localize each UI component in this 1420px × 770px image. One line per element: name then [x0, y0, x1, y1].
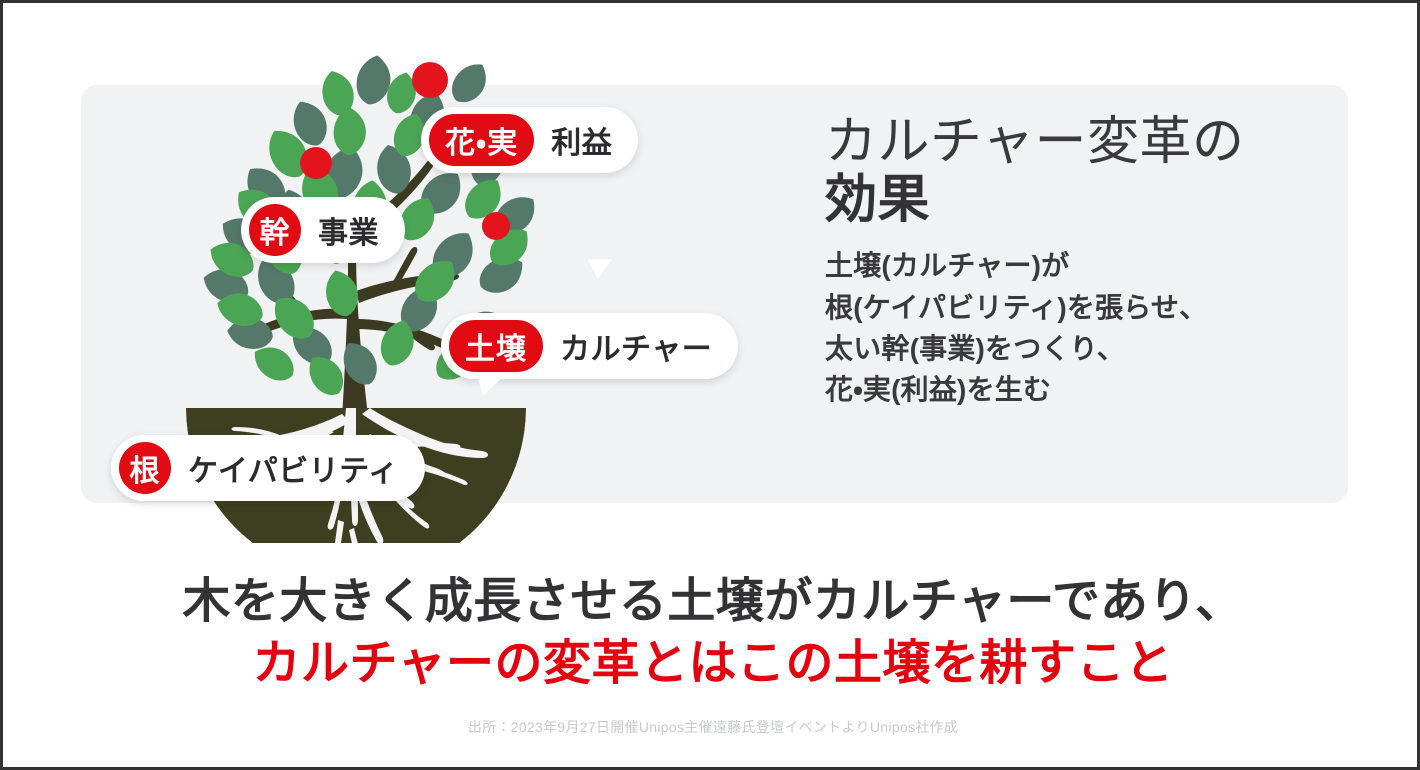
callout-badge-trunk: 幹 [249, 204, 301, 256]
description-line-2: 根(ケイパビリティ)を張らせ、 [825, 287, 1325, 328]
description-line-4: 花・実(利益)を生む [825, 369, 1325, 410]
callout-flower-fruit: 花・実 利益 [421, 107, 638, 173]
callout-soil: 土壌 カルチャー [441, 313, 738, 379]
callout-badge-flower-fruit: 花・実 [429, 114, 534, 166]
callout-label-business: 事業 [318, 208, 379, 252]
heading-line-1: カルチャー変革の [825, 113, 1325, 171]
callout-label-culture: カルチャー [560, 324, 712, 368]
slide-canvas: 花・実 利益 幹 事業 土壌 カルチャー 根 ケイパビリティ カルチャー変革の … [0, 0, 1420, 770]
callout-label-profit: 利益 [551, 118, 612, 162]
summary-headline: 木を大きく成長させる土壌がカルチャーであり、 カルチャーの変革とはこの土壌を耕す… [3, 571, 1420, 696]
callout-tail-trunk [587, 259, 612, 279]
callout-badge-root: 根 [119, 442, 171, 494]
description-block: 土壌(カルチャー)が 根(ケイパビリティ)を張らせ、 太い幹(事業)をつくり、 … [825, 245, 1325, 410]
source-footnote: 出所：2023年9月27日開催Unipos主催遠藤氏登壇イベントよりUnipos… [3, 717, 1420, 737]
callout-trunk: 幹 事業 [241, 197, 405, 263]
callout-badge-soil: 土壌 [449, 320, 543, 372]
callout-root: 根 ケイパビリティ [111, 435, 425, 501]
right-text-column: カルチャー変革の 効果 土壌(カルチャー)が 根(ケイパビリティ)を張らせ、 太… [825, 113, 1325, 410]
description-line-3: 太い幹(事業)をつくり、 [825, 328, 1325, 369]
description-line-1: 土壌(カルチャー)が [825, 245, 1325, 286]
summary-headline-line-2: カルチャーの変革とはこの土壌を耕すこと [3, 633, 1420, 695]
summary-headline-line-1: 木を大きく成長させる土壌がカルチャーであり、 [3, 571, 1420, 633]
callout-label-capability: ケイパビリティ [188, 446, 399, 490]
callout-tail-soil [477, 375, 505, 396]
heading-line-2: 効果 [825, 171, 1325, 229]
